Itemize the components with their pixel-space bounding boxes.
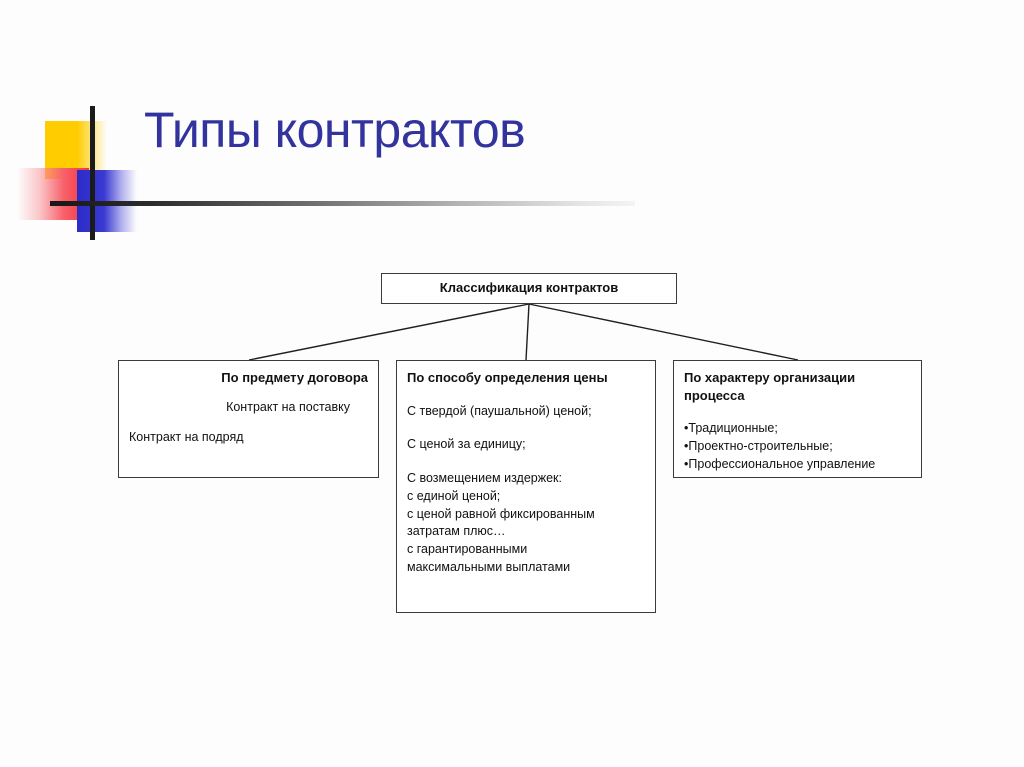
diagram-node-process-bullet-2: •Проектно-строительные; — [684, 438, 911, 456]
diagram-node-process-bullet-1: •Традиционные; — [684, 420, 911, 438]
diagram-node-process-bullets: •Традиционные; •Проектно-строительные; •… — [684, 420, 911, 473]
diagram-node-root[interactable]: Классификация контрактов — [381, 273, 677, 304]
diagram-node-subject[interactable]: По предмету договора Контракт на поставк… — [118, 360, 379, 478]
decoration-horizontal-rule — [50, 201, 635, 206]
diagram-node-price[interactable]: По способу определения цены С твердой (п… — [396, 360, 656, 613]
diagram-node-price-item-2: С ценой за единицу; — [407, 436, 645, 454]
diagram-node-price-group-line-5: с гарантированными — [407, 541, 645, 559]
decoration-vertical-rule — [90, 106, 95, 240]
diagram-node-subject-item-2: Контракт на подряд — [129, 429, 368, 447]
diagram-node-price-group-line-6: максимальными выплатами — [407, 559, 645, 577]
diagram-node-price-header: По способу определения цены — [407, 369, 645, 387]
diagram-node-price-group-line-2: с единой ценой; — [407, 488, 645, 506]
diagram-node-price-group: С возмещением издержек: с единой ценой; … — [407, 470, 645, 577]
diagram-node-price-group-line-3: с ценой равной фиксированным — [407, 506, 645, 524]
diagram-node-price-group-line-4: затратам плюс… — [407, 523, 645, 541]
diagram-node-process-bullet-1-label: Традиционные; — [688, 421, 777, 435]
diagram-node-process-bullet-2-label: Проектно-строительные; — [688, 439, 832, 453]
diagram-node-subject-header: По предмету договора — [129, 369, 368, 387]
diagram-node-process-header: По характеру организации процесса — [684, 369, 911, 404]
diagram-node-subject-item-1: Контракт на поставку — [129, 399, 368, 417]
connector-root-to-price — [526, 304, 529, 360]
diagram-node-price-group-line-1: С возмещением издержек: — [407, 470, 645, 488]
slide-canvas: Типы контрактов Классификация контрактов… — [0, 0, 1024, 767]
diagram-node-process[interactable]: По характеру организации процесса •Тради… — [673, 360, 922, 478]
connector-root-to-process — [529, 304, 798, 360]
connector-root-to-subject — [249, 304, 529, 360]
diagram-node-root-label: Классификация контрактов — [440, 279, 618, 297]
diagram-node-process-bullet-3: •Профессиональное управление — [684, 456, 911, 474]
diagram-node-process-bullet-3-label: Профессиональное управление — [688, 457, 875, 471]
diagram-node-price-item-1: С твердой (паушальной) ценой; — [407, 403, 645, 421]
slide-title: Типы контрактов — [144, 101, 525, 159]
